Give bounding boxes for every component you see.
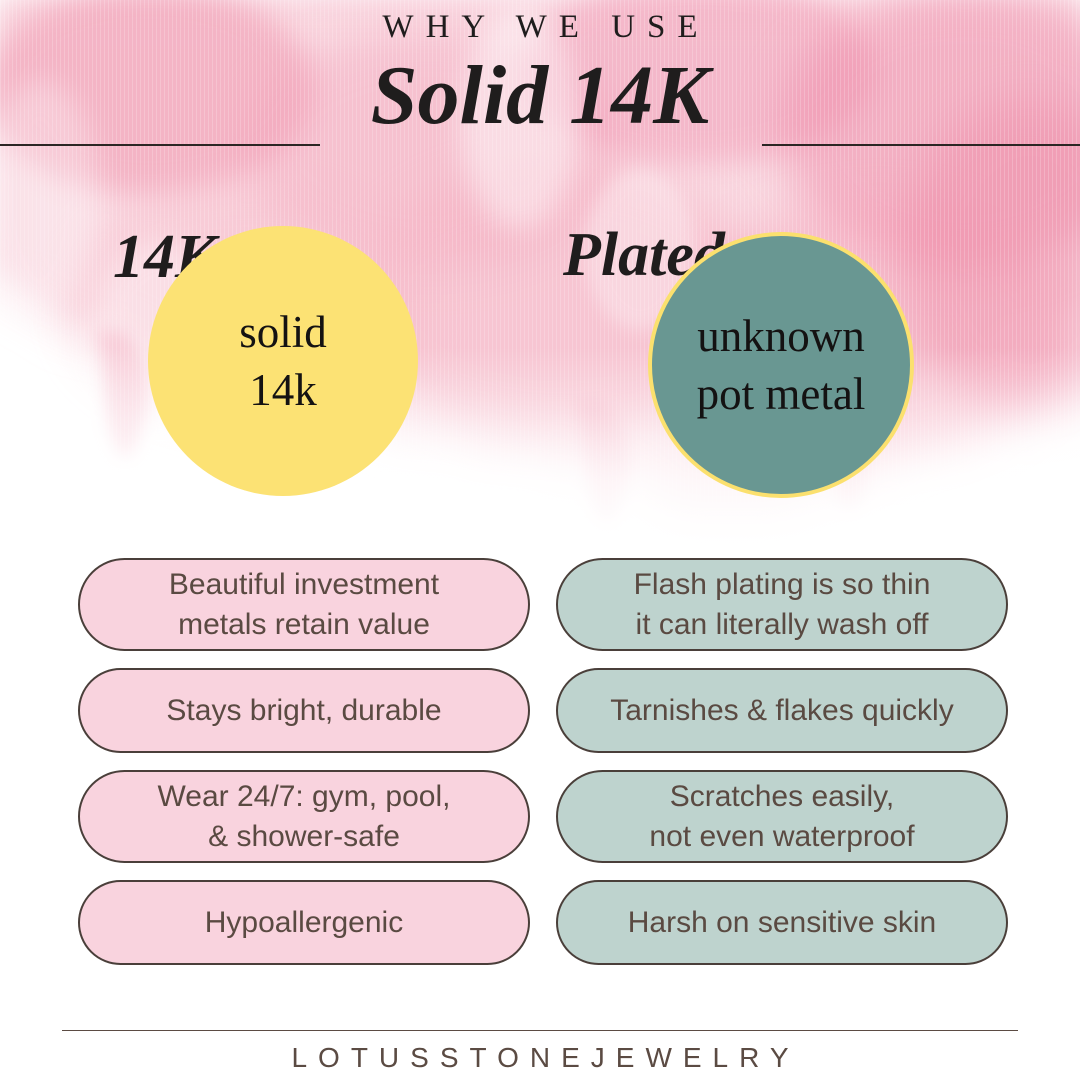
circle-solid-14k-text: solid 14k (239, 303, 327, 420)
footer-divider (62, 1030, 1018, 1031)
pill-drawback-3: Scratches easily, not even waterproof (556, 770, 1008, 863)
brand-wordmark: LOTUSSTONEJEWELRY (0, 1040, 1080, 1076)
pill-drawback-1: Flash plating is so thin it can literall… (556, 558, 1008, 651)
circle-solid-14k: solid 14k (148, 226, 418, 496)
pill-benefit-2: Stays bright, durable (78, 668, 530, 753)
circle-plated-text: unknown pot metal (697, 307, 866, 424)
pill-row: Beautiful investment metals retain value… (78, 558, 1008, 651)
pill-row: Wear 24/7: gym, pool, & shower-safe Scra… (78, 770, 1008, 863)
wash-drip-2 (575, 400, 629, 525)
pill-drawback-2: Tarnishes & flakes quickly (556, 668, 1008, 753)
comparison-pill-grid: Beautiful investment metals retain value… (78, 558, 1008, 982)
pill-benefit-4: Hypoallergenic (78, 880, 530, 965)
poster-canvas: WHY WE USE Solid 14K 14K Plated solid 14… (0, 0, 1080, 1080)
circle-plated: unknown pot metal (648, 232, 914, 498)
pill-row: Hypoallergenic Harsh on sensitive skin (78, 880, 1008, 965)
pill-row: Stays bright, durable Tarnishes & flakes… (78, 668, 1008, 753)
pill-drawback-4: Harsh on sensitive skin (556, 880, 1008, 965)
header-divider-left (0, 144, 320, 146)
pill-benefit-3: Wear 24/7: gym, pool, & shower-safe (78, 770, 530, 863)
wash-drip-1 (95, 330, 148, 458)
page-title: Solid 14K (0, 48, 1080, 144)
header-title-row: Solid 14K (0, 48, 1080, 144)
header-kicker: WHY WE USE (0, 8, 1080, 48)
wash-blob-8 (900, 100, 1080, 420)
header-divider-right (762, 144, 1080, 146)
pill-benefit-1: Beautiful investment metals retain value (78, 558, 530, 651)
